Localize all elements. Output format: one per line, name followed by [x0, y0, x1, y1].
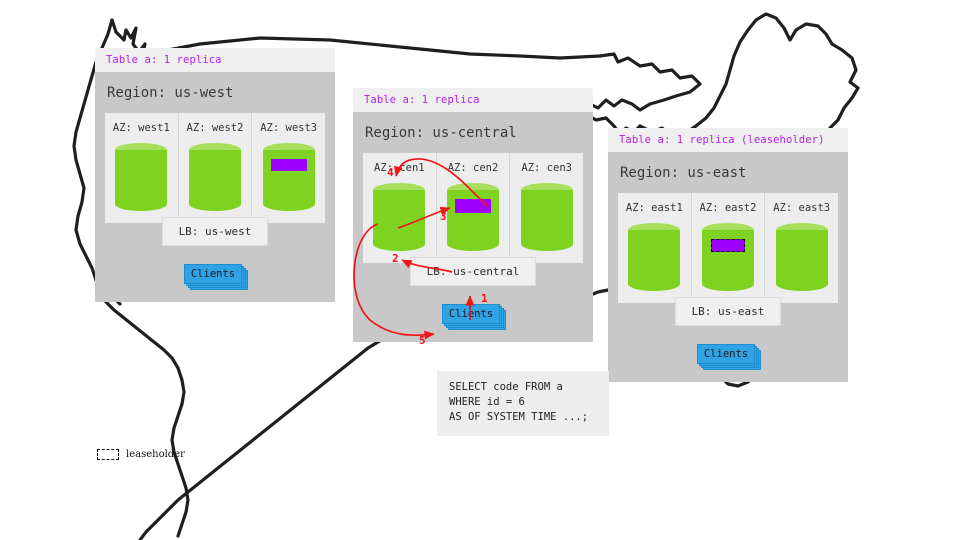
- node-cylinder-east1: [628, 223, 680, 291]
- step-number-4: 4: [387, 166, 394, 179]
- clients-wrap-us-central: Clients: [353, 304, 593, 328]
- diagram-stage: Table a: 1 replica Region: us-west AZ: w…: [0, 0, 960, 540]
- legend-label: leaseholder: [126, 449, 185, 460]
- az-label-east2: AZ: east2: [700, 202, 757, 214]
- clients-wrap-us-east: Clients: [608, 344, 848, 368]
- az-row-us-central: AZ: cen1 AZ: cen2: [363, 153, 583, 263]
- replica-marker-west3: [271, 159, 307, 171]
- clients-label-us-east: Clients: [697, 344, 755, 364]
- az-label-cen3: AZ: cen3: [521, 162, 572, 174]
- az-cell-east1: AZ: east1: [618, 193, 692, 303]
- az-cell-cen2: AZ: cen2: [437, 153, 511, 263]
- az-label-west2: AZ: west2: [187, 122, 244, 134]
- az-label-east3: AZ: east3: [773, 202, 830, 214]
- cylinder-bottom-cen3: [521, 237, 573, 251]
- replica-marker-cen2: [455, 199, 491, 213]
- node-cylinder-west1: [115, 143, 167, 211]
- load-balancer-us-west[interactable]: LB: us-west: [162, 217, 269, 246]
- az-label-cen2: AZ: cen2: [448, 162, 499, 174]
- cylinder-body-cen1: [373, 190, 425, 244]
- az-label-east1: AZ: east1: [626, 202, 683, 214]
- node-cylinder-east3: [776, 223, 828, 291]
- cylinder-bottom-east1: [628, 277, 680, 291]
- region-panel-us-west: Table a: 1 replica Region: us-west AZ: w…: [95, 48, 335, 302]
- step-number-3: 3: [440, 210, 447, 223]
- az-label-cen1: AZ: cen1: [374, 162, 425, 174]
- region-title-us-east: Region: us-east: [608, 152, 848, 193]
- clients-stack-us-east[interactable]: Clients: [697, 344, 759, 368]
- cylinder-body-east3: [776, 230, 828, 284]
- az-cell-cen1: AZ: cen1: [363, 153, 437, 263]
- cylinder-bottom-west3: [263, 197, 315, 211]
- node-cylinder-cen2: [447, 183, 499, 251]
- clients-wrap-us-west: Clients: [95, 264, 335, 288]
- clients-label-us-central: Clients: [442, 304, 500, 324]
- cylinder-body-west1: [115, 150, 167, 204]
- region-header-us-east: Table a: 1 replica (leaseholder): [608, 128, 848, 152]
- step-number-5: 5: [419, 334, 426, 347]
- node-cylinder-cen3: [521, 183, 573, 251]
- cylinder-bottom-east3: [776, 277, 828, 291]
- cylinder-body-west2: [189, 150, 241, 204]
- az-label-west3: AZ: west3: [260, 122, 317, 134]
- region-title-us-central: Region: us-central: [353, 112, 593, 153]
- region-body-us-east: Region: us-east AZ: east1 AZ: east2: [608, 152, 848, 382]
- node-cylinder-east2: [702, 223, 754, 291]
- az-row-us-west: AZ: west1 AZ: west2 AZ: [105, 113, 325, 223]
- cylinder-bottom-east2: [702, 277, 754, 291]
- load-balancer-us-east[interactable]: LB: us-east: [675, 297, 782, 326]
- node-cylinder-cen1: [373, 183, 425, 251]
- clients-label-us-west: Clients: [184, 264, 242, 284]
- step-number-2: 2: [392, 252, 399, 265]
- az-cell-east2: AZ: east2: [692, 193, 766, 303]
- az-cell-east3: AZ: east3: [765, 193, 838, 303]
- leaseholder-replica-marker-east2: [711, 239, 745, 252]
- clients-stack-us-central[interactable]: Clients: [442, 304, 504, 328]
- clients-stack-us-west[interactable]: Clients: [184, 264, 246, 288]
- az-label-west1: AZ: west1: [113, 122, 170, 134]
- legend: leaseholder: [97, 449, 185, 460]
- az-row-us-east: AZ: east1 AZ: east2: [618, 193, 838, 303]
- region-header-us-central: Table a: 1 replica: [353, 88, 593, 112]
- cylinder-body-cen3: [521, 190, 573, 244]
- az-cell-west2: AZ: west2: [179, 113, 253, 223]
- cylinder-bottom-cen1: [373, 237, 425, 251]
- load-balancer-us-central[interactable]: LB: us-central: [410, 257, 537, 286]
- az-cell-west3: AZ: west3: [252, 113, 325, 223]
- region-header-us-west: Table a: 1 replica: [95, 48, 335, 72]
- node-cylinder-west3: [263, 143, 315, 211]
- cylinder-bottom-cen2: [447, 237, 499, 251]
- region-title-us-west: Region: us-west: [95, 72, 335, 113]
- sql-query-box: SELECT code FROM a WHERE id = 6 AS OF SY…: [437, 371, 609, 436]
- step-number-1: 1: [481, 292, 488, 305]
- cylinder-bottom-west1: [115, 197, 167, 211]
- region-panel-us-east: Table a: 1 replica (leaseholder) Region:…: [608, 128, 848, 382]
- node-cylinder-west2: [189, 143, 241, 211]
- dashed-rect-icon: [97, 449, 119, 460]
- region-panel-us-central: Table a: 1 replica Region: us-central AZ…: [353, 88, 593, 342]
- cylinder-body-east1: [628, 230, 680, 284]
- region-body-us-west: Region: us-west AZ: west1 AZ: west2: [95, 72, 335, 302]
- region-body-us-central: Region: us-central AZ: cen1 AZ: cen2: [353, 112, 593, 342]
- cylinder-bottom-west2: [189, 197, 241, 211]
- az-cell-cen3: AZ: cen3: [510, 153, 583, 263]
- az-cell-west1: AZ: west1: [105, 113, 179, 223]
